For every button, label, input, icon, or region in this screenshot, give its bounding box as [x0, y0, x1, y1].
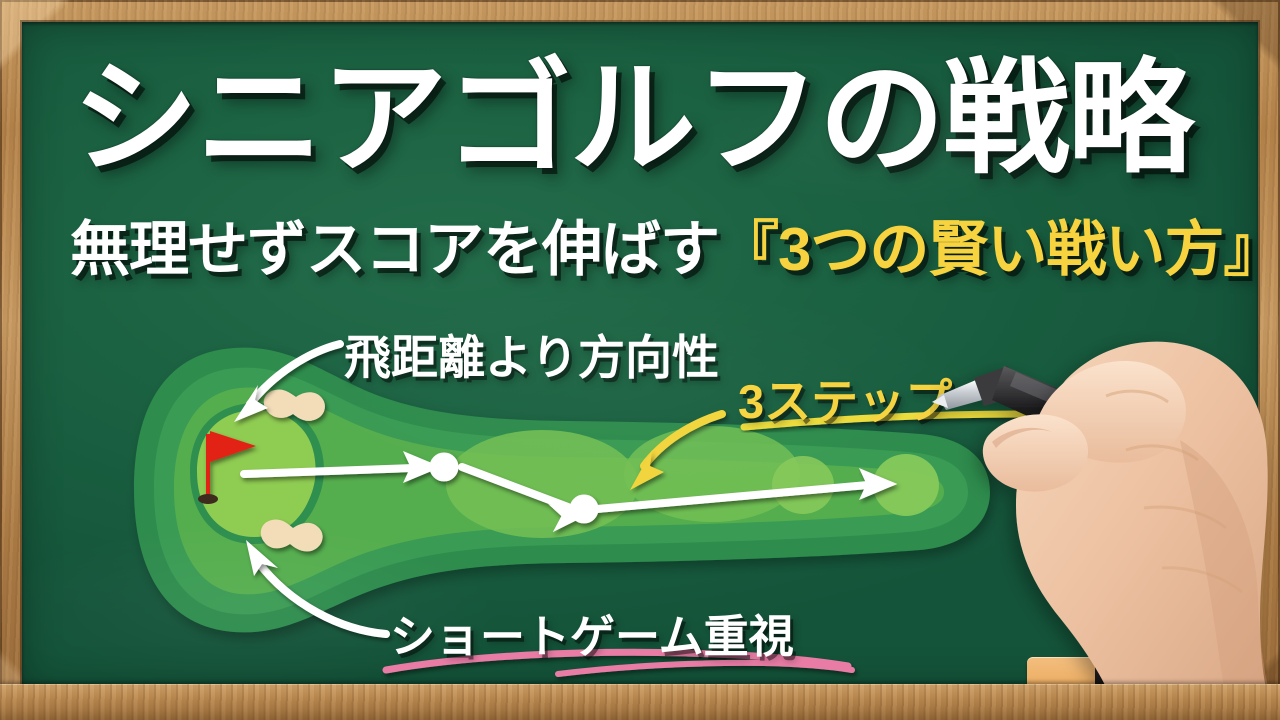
thumbnail-canvas: シニアゴルフの戦略 無理せずスコアを伸ばす『3つの賢い戦い方』 飛距離より方向性…	[0, 0, 1280, 720]
annotation-three-steps-label: 3ステップ	[738, 363, 952, 432]
ball-marker-2	[570, 495, 598, 523]
chalk-ledge	[0, 684, 1280, 720]
page-subtitle: 無理せずスコアを伸ばす『3つの賢い戦い方』	[70, 218, 1258, 281]
landing-zone-1	[446, 430, 638, 538]
subtitle-yellow-part: 『3つの賢い戦い方』	[719, 216, 1258, 283]
page-title: シニアゴルフの戦略	[72, 56, 1258, 182]
chalkboard-surface: シニアゴルフの戦略 無理せずスコアを伸ばす『3つの賢い戦い方』 飛距離より方向性…	[22, 22, 1258, 688]
subtitle-white-part: 無理せずスコアを伸ばす	[70, 216, 719, 283]
hole-cup	[198, 494, 218, 504]
ball-marker-1	[430, 453, 458, 481]
annotation-short-game-label: ショートゲーム重視	[390, 600, 794, 665]
annotation-direction-label: 飛距離より方向性	[344, 319, 719, 388]
